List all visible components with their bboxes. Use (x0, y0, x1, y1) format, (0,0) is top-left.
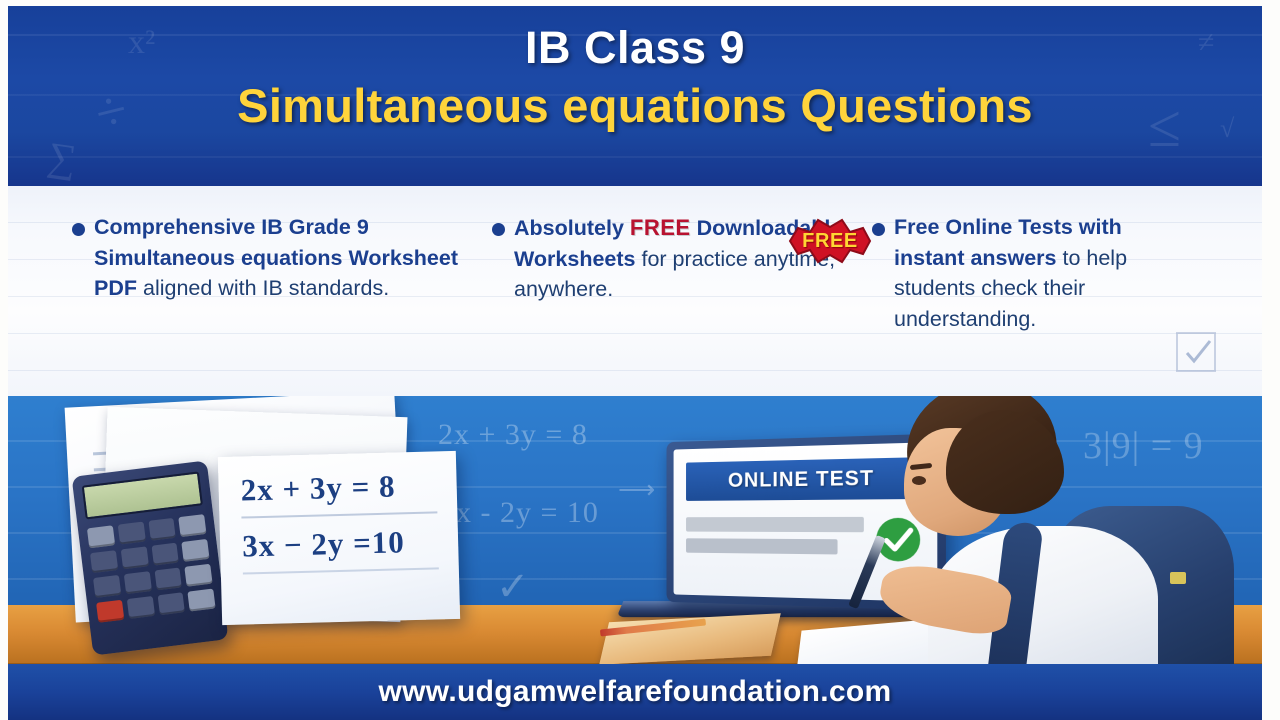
feature-list: Comprehensive IB Grade 9 Simultaneous eq… (8, 186, 1262, 334)
free-badge-label: FREE (802, 230, 858, 253)
title-block: IB Class 9 Simultaneous equations Questi… (8, 6, 1262, 134)
student-illustration (888, 396, 1262, 684)
feature-item-2: Absolutely FREE Downloadable Worksheets … (514, 212, 874, 334)
worksheet-equation-2: 3x − 2y =10 (242, 523, 439, 574)
calculator-key (148, 518, 176, 541)
sigma-icon: ∑ (45, 132, 80, 183)
calculator-key (157, 592, 185, 615)
footer-bar: www.udgamwelfarefoundation.com (8, 664, 1262, 720)
feature-item-1: Comprehensive IB Grade 9 Simultaneous eq… (94, 212, 494, 334)
student-eye (912, 476, 926, 485)
calculator-key (185, 564, 213, 587)
answer-placeholder-bars (686, 517, 864, 562)
calculator-key (90, 550, 118, 573)
poster-canvas: ÷ x² ≤ ≠ √ ∑ IB Class 9 Simultaneous equ… (8, 6, 1262, 720)
free-highlight-text: FREE (630, 215, 691, 240)
feature-light-1: aligned with IB standards. (143, 276, 389, 300)
background-equation-2: 3x - 2y = 10 (440, 496, 599, 530)
calculator-key (93, 575, 121, 598)
calculator-key (178, 514, 206, 537)
calculator-key (87, 525, 115, 548)
background-equation-1: 2x + 3y = 8 (438, 418, 588, 452)
calculator-key (120, 546, 148, 569)
calculator-display (82, 471, 203, 519)
calculator-key (154, 567, 182, 590)
calculator (72, 460, 229, 655)
worksheet-equation-card: 2x + 3y = 8 3x − 2y =10 (218, 451, 460, 625)
feature-item-3: Free Online Tests with instant answers t… (894, 212, 1194, 334)
website-url[interactable]: www.udgamwelfarefoundation.com (379, 675, 892, 709)
calculator-key (188, 589, 216, 612)
features-panel: Comprehensive IB Grade 9 Simultaneous eq… (8, 186, 1262, 396)
feature-text-3: Free Online Tests with instant answers t… (894, 212, 1194, 334)
calculator-key (182, 539, 210, 562)
laptop-screen-body (686, 516, 922, 564)
page-subtitle: Simultaneous equations Questions (8, 78, 1262, 134)
header-banner: ÷ x² ≤ ≠ √ ∑ IB Class 9 Simultaneous equ… (8, 6, 1262, 186)
calculator-key (151, 543, 179, 566)
page-title: IB Class 9 (8, 22, 1262, 74)
background-check-icon: ✓ (496, 564, 530, 610)
calculator-key-clear (96, 600, 124, 623)
calculator-key (117, 522, 145, 545)
checkmark-icon (1183, 338, 1213, 368)
backpack-tag (1170, 572, 1186, 584)
bullet-dot-icon (72, 223, 85, 236)
bullet-dot-icon (492, 223, 505, 236)
poster-root: ÷ x² ≤ ≠ √ ∑ IB Class 9 Simultaneous equ… (0, 0, 1280, 720)
online-test-banner: ONLINE TEST (686, 457, 922, 501)
calculator-key (127, 596, 155, 619)
placeholder-bar (686, 517, 864, 532)
placeholder-bar (686, 538, 837, 554)
calculator-key (124, 571, 152, 594)
worksheet-equation-1: 2x + 3y = 8 (240, 467, 437, 518)
feature-bold-2a: Absolutely (514, 216, 630, 240)
arrow-icon: ⟶ (618, 474, 655, 505)
online-test-label: ONLINE TEST (728, 466, 874, 492)
calculator-keypad (87, 514, 216, 623)
free-starburst-badge: FREE (784, 216, 876, 266)
feature-text-1: Comprehensive IB Grade 9 Simultaneous eq… (94, 212, 494, 304)
checkbox-decoration (1176, 332, 1216, 372)
